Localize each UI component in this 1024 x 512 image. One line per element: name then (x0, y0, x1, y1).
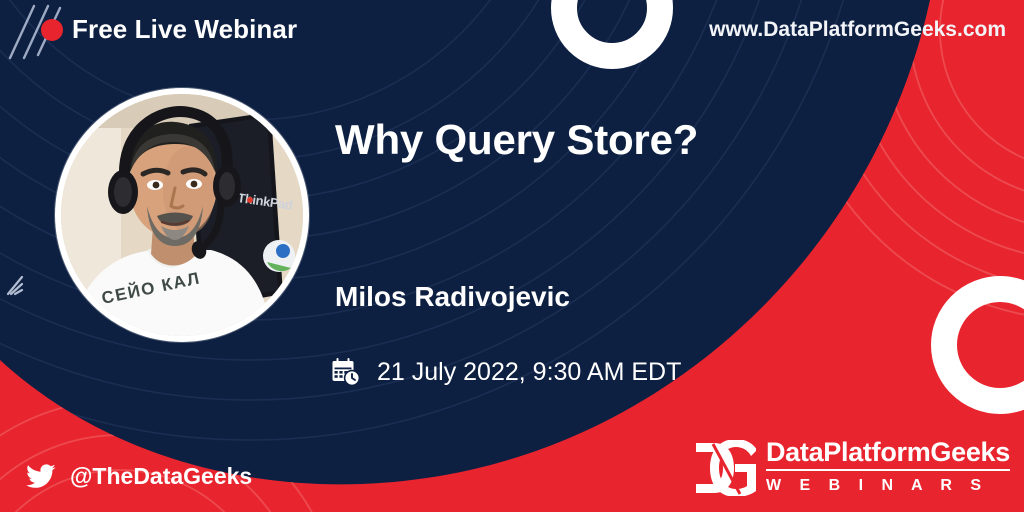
brand-subtitle: W E B I N A R S (766, 471, 1010, 498)
twitter-bird-icon[interactable] (26, 464, 56, 490)
dg-monogram-icon (694, 440, 756, 496)
brand-text: DataPlatformGeeks W E B I N A R S (766, 438, 1010, 498)
calendar-clock-icon (331, 357, 361, 387)
brand-name: DataPlatformGeeks (766, 438, 1010, 471)
datetime-text: 21 July 2022, 9:30 AM EDT (377, 358, 681, 387)
webinar-banner: Free Live Webinar www.DataPlatformGeeks.… (0, 0, 1024, 512)
live-webinar-label: Free Live Webinar (72, 14, 297, 45)
speaker-headshot-photo: ThinkPad СЕЙО КАЛ (61, 94, 303, 336)
site-url[interactable]: www.DataPlatformGeeks.com (709, 18, 1006, 42)
twitter-handle[interactable]: @TheDataGeeks (70, 463, 252, 490)
live-dot-icon (41, 19, 63, 41)
speaker-name: Milos Radivojevic (335, 281, 570, 313)
avatar: ThinkPad СЕЙО КАЛ (55, 88, 309, 342)
twitter-row[interactable]: @TheDataGeeks (26, 463, 252, 490)
page-title: Why Query Store? (335, 116, 698, 164)
brand-logo[interactable]: DataPlatformGeeks W E B I N A R S (694, 438, 1010, 498)
datetime-row: 21 July 2022, 9:30 AM EDT (331, 357, 681, 387)
